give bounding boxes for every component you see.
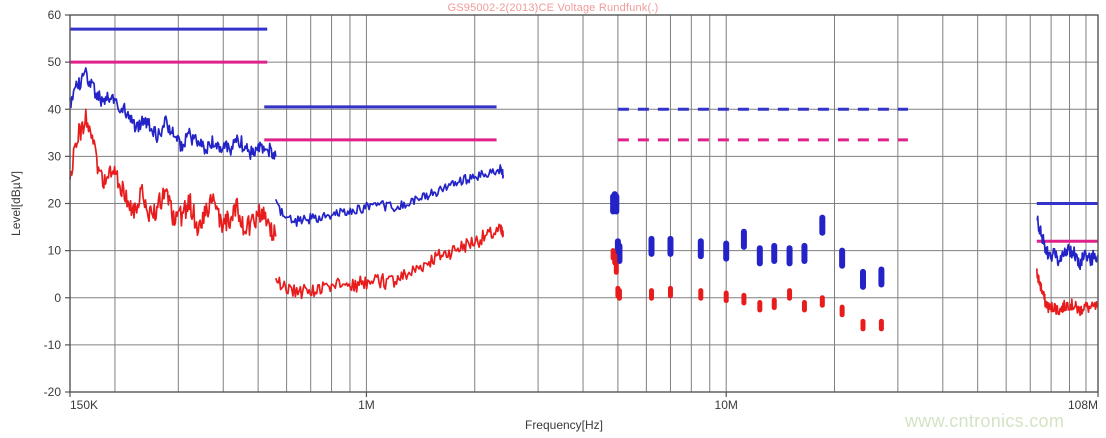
trace-quasi-peak <box>1037 216 1098 269</box>
x-tick-label: 150K <box>70 398 98 412</box>
y-tick-label: -20 <box>44 385 62 399</box>
x-tick-label: 108M <box>1068 398 1098 412</box>
y-tick-label: 40 <box>48 102 62 116</box>
chart-page: GS95002-2(2013)CE Voltage Rundfunk(.) -2… <box>0 0 1106 438</box>
x-axis-title: Frequency[Hz] <box>525 418 603 432</box>
site-watermark: www.cntronics.com <box>905 411 1064 432</box>
y-tick-label: -10 <box>44 338 62 352</box>
grid-layer <box>70 15 1098 392</box>
trace-quasi-peak <box>70 68 276 159</box>
y-axis-title: Level[dBµV] <box>9 171 23 236</box>
x-tick-label: 1M <box>358 398 375 412</box>
y-tick-label: 10 <box>48 244 62 258</box>
limit-lines-layer <box>70 29 1098 241</box>
y-tick-label: 20 <box>48 197 62 211</box>
y-tick-label: 50 <box>48 55 62 69</box>
y-tick-label: 60 <box>48 8 62 22</box>
emc-spectrum-plot: -20-100102030405060150K1M10M108MFrequenc… <box>0 0 1106 438</box>
y-tick-label: 30 <box>48 149 62 163</box>
trace-average <box>276 224 503 298</box>
measurement-traces-layer <box>70 68 1098 329</box>
x-tick-label: 10M <box>715 398 738 412</box>
trace-average <box>1037 268 1098 315</box>
trace-quasi-peak <box>276 165 503 226</box>
y-tick-label: 0 <box>54 291 61 305</box>
